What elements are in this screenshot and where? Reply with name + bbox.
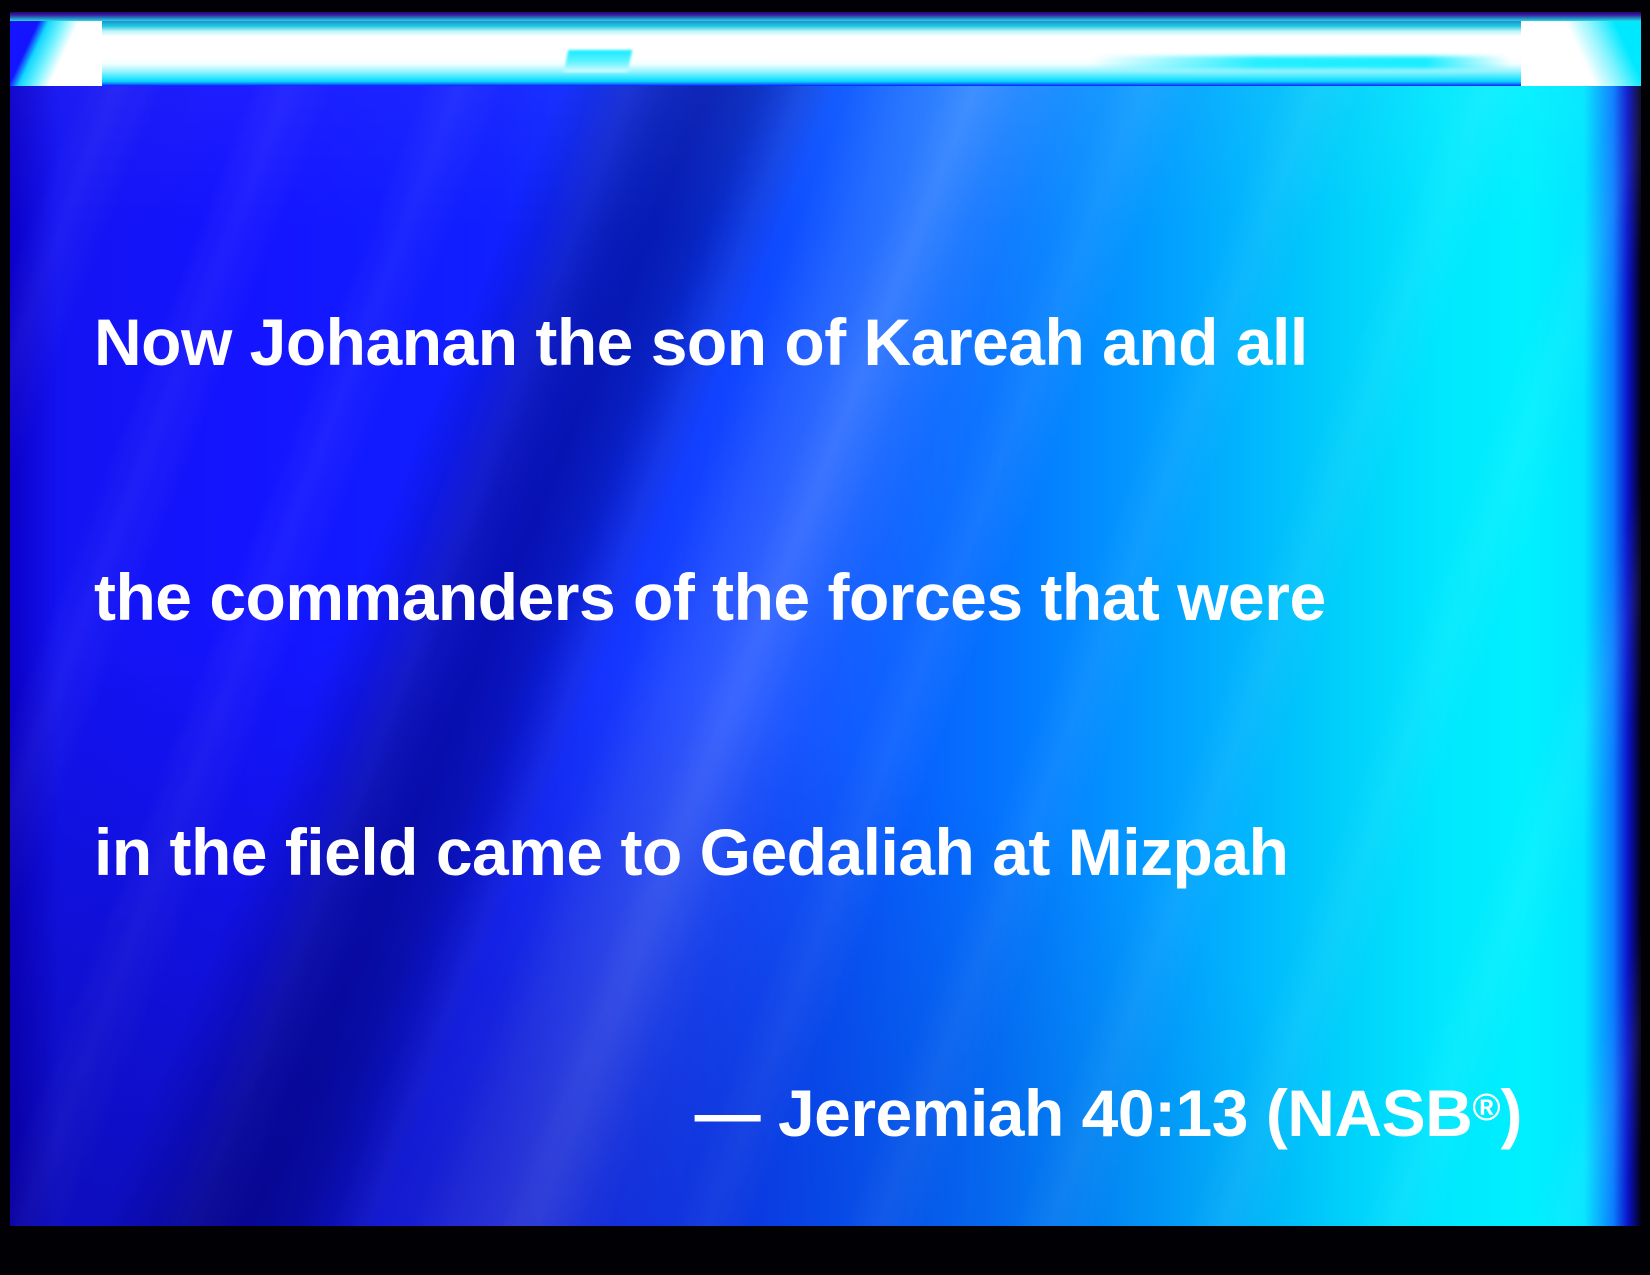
verse-line-3: in the field came to Gedaliah at Mizpah	[94, 810, 1526, 895]
attribution-chapter-verse: 40:13	[1082, 1076, 1248, 1150]
verse-attribution: — Jeremiah 40:13 (NASB®)	[94, 1065, 1526, 1156]
attribution-space-3	[1248, 1076, 1266, 1150]
attribution-space-2	[1064, 1076, 1082, 1150]
banner-cyan-streak	[1090, 56, 1510, 69]
attribution-dash: —	[695, 1076, 761, 1150]
banner-right-wedge	[1521, 12, 1641, 86]
banner-left-wedge	[10, 12, 102, 86]
verse-text-block: Now Johanan the son of Kareah and all th…	[94, 130, 1526, 1226]
attribution-translation-open: (NASB	[1266, 1076, 1473, 1150]
top-banner	[10, 12, 1641, 86]
verse-slide: Now Johanan the son of Kareah and all th…	[0, 0, 1650, 1275]
attribution-book: Jeremiah	[778, 1076, 1064, 1150]
verse-line-1: Now Johanan the son of Kareah and all	[94, 300, 1526, 385]
registered-trademark-icon: ®	[1472, 1086, 1500, 1129]
attribution-space	[760, 1076, 778, 1150]
banner-top-rule	[10, 12, 1641, 21]
verse-line-2: the commanders of the forces that were	[94, 555, 1526, 640]
attribution-translation-close: )	[1501, 1076, 1522, 1150]
slide-artboard: Now Johanan the son of Kareah and all th…	[10, 12, 1641, 1226]
banner-cyan-notch	[564, 50, 633, 72]
